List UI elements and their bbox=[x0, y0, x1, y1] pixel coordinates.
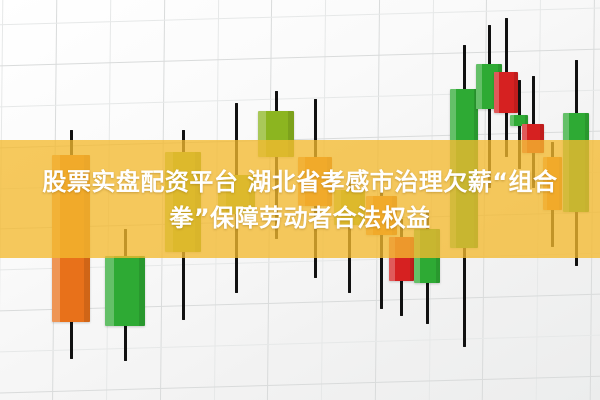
candlestick-body bbox=[414, 229, 440, 283]
candlestick-chart-image: 股票实盘配资平台 湖北省孝感市治理欠薪“组合拳”保障劳动者合法权益 bbox=[0, 0, 600, 400]
candlestick-body bbox=[522, 124, 544, 153]
candlestick-body bbox=[105, 256, 145, 326]
candlestick-body bbox=[389, 237, 414, 282]
headline-text: 股票实盘配资平台 湖北省孝感市治理欠薪“组合拳”保障劳动者合法权益 bbox=[0, 164, 600, 236]
candlestick-body bbox=[258, 111, 294, 158]
